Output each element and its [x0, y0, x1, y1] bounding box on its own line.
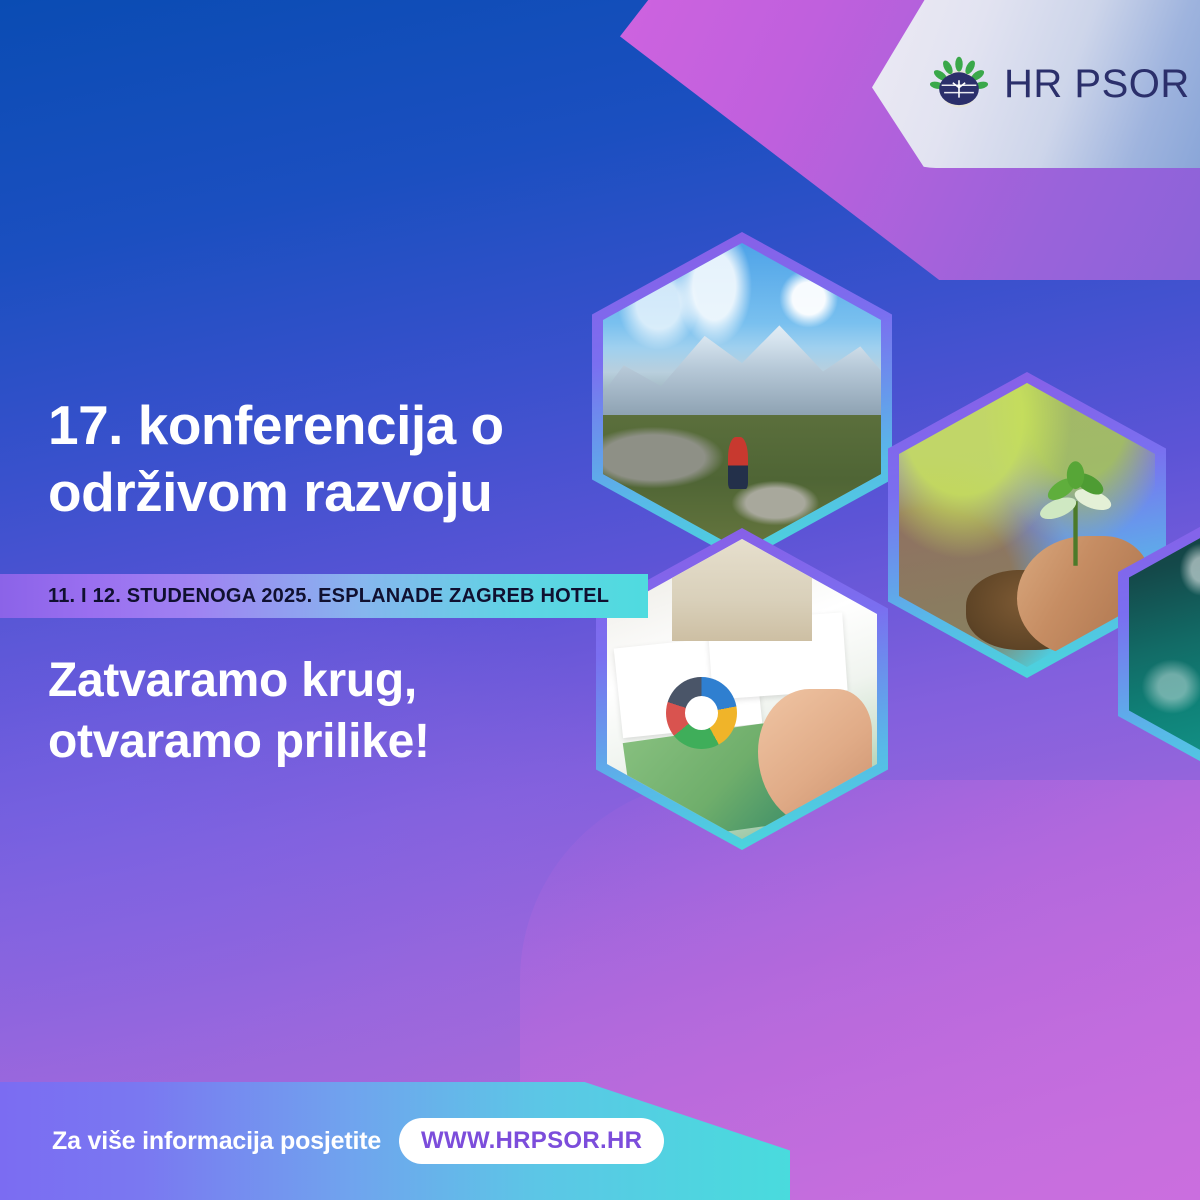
headline-line-2: održivom razvoju [48, 459, 648, 526]
brand-name: HR PSOR [1004, 62, 1190, 107]
footer-prompt-text: Za više informacija posjetite [52, 1127, 381, 1156]
hiker-figure [728, 437, 747, 489]
hrpsor-globe-leaves-logo-icon [928, 53, 990, 115]
page-title: 17. konferencija o održivom razvoju [48, 392, 648, 526]
headline-line-1: 17. konferencija o [48, 392, 648, 459]
event-date-band: 11. I 12. STUDENOGA 2025. ESPLANADE ZAGR… [0, 574, 648, 618]
tagline-line-1: Zatvaramo krug, [48, 650, 608, 711]
event-date-location-text: 11. I 12. STUDENOGA 2025. ESPLANADE ZAGR… [48, 585, 609, 608]
event-tagline: Zatvaramo krug, otvaramo prilike! [48, 650, 608, 773]
seedling-plant-icon [1032, 451, 1119, 576]
website-url-pill[interactable]: WWW.HRPSOR.HR [399, 1118, 664, 1164]
brand-logo-plate: HR PSOR [872, 0, 1200, 168]
esg-donut-chart [666, 677, 736, 749]
hexagon-photo-seedling-image [899, 383, 1155, 667]
forearm-shape [672, 539, 812, 641]
tagline-line-2: otvaramo prilike! [48, 711, 608, 772]
conference-poster: HR PSOR [0, 0, 1200, 1200]
